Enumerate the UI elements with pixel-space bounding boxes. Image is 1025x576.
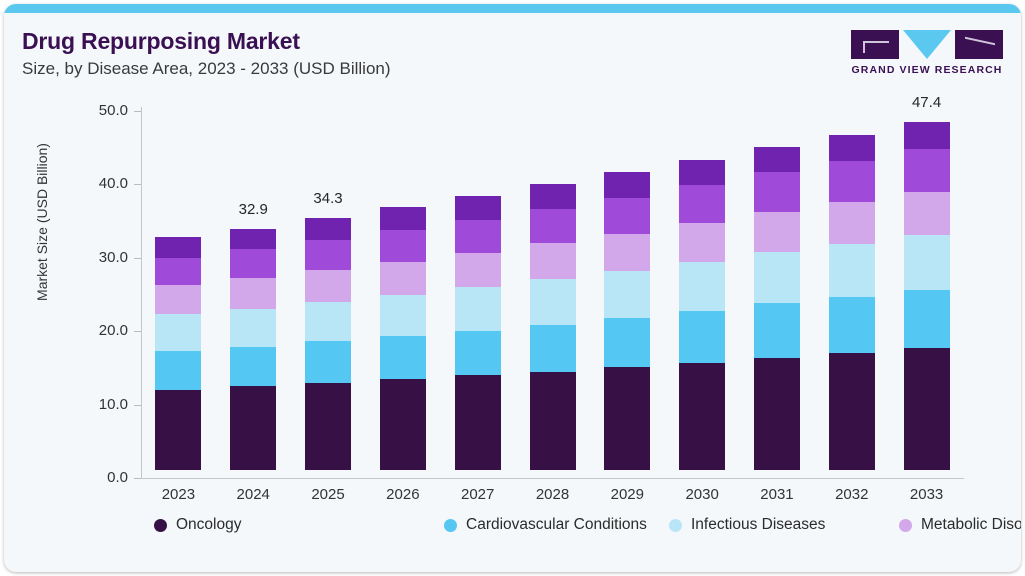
bar-segment[interactable] xyxy=(679,185,725,222)
bar-segment[interactable] xyxy=(904,290,950,348)
bar-segment[interactable] xyxy=(305,341,351,383)
bar-segment[interactable] xyxy=(455,196,501,219)
bar-segment[interactable] xyxy=(679,160,725,185)
bar-segment[interactable] xyxy=(530,279,576,325)
y-axis-tick-mark xyxy=(134,331,141,332)
bar-segment[interactable] xyxy=(679,223,725,262)
y-axis-tick-label: 10.0 xyxy=(66,396,128,413)
legend-item[interactable]: Cardiovascular Conditions xyxy=(444,516,669,534)
bar-segment[interactable] xyxy=(679,262,725,311)
bar-segment[interactable] xyxy=(604,234,650,271)
y-axis-tick-label: 30.0 xyxy=(66,249,128,266)
x-axis-tick-label: 2033 xyxy=(892,486,962,503)
bar-segment[interactable] xyxy=(829,244,875,297)
bar-segment[interactable] xyxy=(829,161,875,202)
y-axis-tick-mark xyxy=(134,478,141,479)
bar-segment[interactable] xyxy=(305,302,351,341)
legend-color-swatch-icon xyxy=(899,519,912,532)
bar-segment[interactable] xyxy=(829,135,875,161)
y-axis-tick-mark xyxy=(134,111,141,112)
bar-segment[interactable] xyxy=(455,220,501,253)
y-axis-tick-label: 0.0 xyxy=(66,469,128,486)
bar-total-label: 32.9 xyxy=(230,201,276,218)
chart-legend: OncologyCardiovascular ConditionsInfecti… xyxy=(154,512,914,538)
bar-segment[interactable] xyxy=(904,122,950,149)
bar-segment[interactable] xyxy=(455,287,501,330)
x-axis-tick-label: 2032 xyxy=(817,486,887,503)
x-axis-tick-label: 2031 xyxy=(742,486,812,503)
legend-item[interactable]: Oncology xyxy=(154,516,444,534)
bar-segment[interactable] xyxy=(754,252,800,303)
legend-label: Oncology xyxy=(176,516,241,534)
bar-segment[interactable] xyxy=(155,390,201,470)
bar-segment[interactable] xyxy=(904,192,950,235)
bar-total-label: 34.3 xyxy=(305,190,351,207)
bar-segment[interactable] xyxy=(455,331,501,376)
bar-segment[interactable] xyxy=(230,229,276,250)
y-axis-tick-mark xyxy=(134,258,141,259)
bar-segment[interactable] xyxy=(604,367,650,470)
y-axis-line xyxy=(141,107,142,479)
bar-segment[interactable] xyxy=(305,240,351,270)
bar-segment[interactable] xyxy=(530,209,576,243)
bar-segment[interactable] xyxy=(155,258,201,285)
bar-segment[interactable] xyxy=(230,278,276,309)
bar-segment[interactable] xyxy=(380,336,426,379)
x-axis-tick-label: 2029 xyxy=(592,486,662,503)
bar-segment[interactable] xyxy=(455,375,501,470)
bar-segment[interactable] xyxy=(530,243,576,279)
bar-segment[interactable] xyxy=(380,230,426,262)
bar-segment[interactable] xyxy=(679,363,725,470)
bar-segment[interactable] xyxy=(754,358,800,470)
bar-segment[interactable] xyxy=(754,303,800,357)
bar-segment[interactable] xyxy=(679,311,725,363)
bar-segment[interactable] xyxy=(230,347,276,387)
legend-item[interactable]: Infectious Diseases xyxy=(669,516,899,534)
legend-label: Metabolic Disorders xyxy=(921,516,1021,534)
x-axis-tick-label: 2025 xyxy=(293,486,363,503)
bar-segment[interactable] xyxy=(829,353,875,470)
x-axis-tick-label: 2023 xyxy=(143,486,213,503)
bar-segment[interactable] xyxy=(530,184,576,209)
x-axis-tick-label: 2027 xyxy=(443,486,513,503)
bar-segment[interactable] xyxy=(829,202,875,244)
bar-segment[interactable] xyxy=(904,348,950,470)
bar-segment[interactable] xyxy=(305,270,351,302)
bar-segment[interactable] xyxy=(155,237,201,258)
chart-card: Drug Repurposing Market Size, by Disease… xyxy=(4,4,1021,572)
bar-segment[interactable] xyxy=(754,212,800,252)
bar-segment[interactable] xyxy=(604,172,650,198)
bar-total-label: 47.4 xyxy=(904,94,950,111)
bar-segment[interactable] xyxy=(230,386,276,470)
bar-segment[interactable] xyxy=(155,351,201,390)
bar-segment[interactable] xyxy=(904,235,950,290)
bar-segment[interactable] xyxy=(155,285,201,314)
legend-color-swatch-icon xyxy=(154,519,167,532)
bar-segment[interactable] xyxy=(155,314,201,351)
x-axis-tick-label: 2028 xyxy=(518,486,588,503)
bar-segment[interactable] xyxy=(380,262,426,295)
y-axis-tick-label: 40.0 xyxy=(66,175,128,192)
bar-segment[interactable] xyxy=(604,318,650,367)
y-axis-tick-label: 20.0 xyxy=(66,322,128,339)
bar-segment[interactable] xyxy=(230,309,276,347)
bar-segment[interactable] xyxy=(380,379,426,470)
bar-segment[interactable] xyxy=(380,207,426,230)
x-axis-tick-label: 2024 xyxy=(218,486,288,503)
chart-plot-area: Market Size (USD Billion) 0.010.020.030.… xyxy=(4,4,1021,572)
bar-segment[interactable] xyxy=(530,325,576,372)
bar-segment[interactable] xyxy=(530,372,576,470)
bar-segment[interactable] xyxy=(230,249,276,278)
y-axis-tick-mark xyxy=(134,184,141,185)
legend-color-swatch-icon xyxy=(669,519,682,532)
legend-label: Cardiovascular Conditions xyxy=(466,516,647,534)
bar-segment[interactable] xyxy=(305,218,351,240)
x-axis-tick-label: 2026 xyxy=(368,486,438,503)
legend-item[interactable]: Metabolic Disorders xyxy=(899,516,1021,534)
bar-segment[interactable] xyxy=(455,253,501,287)
bar-segment[interactable] xyxy=(305,383,351,470)
bar-segment[interactable] xyxy=(754,172,800,212)
y-axis-label: Market Size (USD Billion) xyxy=(34,122,50,322)
x-axis-tick-label: 2030 xyxy=(667,486,737,503)
bar-segment[interactable] xyxy=(380,295,426,336)
legend-color-swatch-icon xyxy=(444,519,457,532)
bar-segment[interactable] xyxy=(604,271,650,318)
legend-label: Infectious Diseases xyxy=(691,516,825,534)
bar-segment[interactable] xyxy=(904,149,950,192)
y-axis-tick-label: 50.0 xyxy=(66,102,128,119)
y-axis-tick-mark xyxy=(134,405,141,406)
bar-segment[interactable] xyxy=(754,147,800,172)
bar-segment[interactable] xyxy=(604,198,650,234)
bar-segment[interactable] xyxy=(829,297,875,353)
